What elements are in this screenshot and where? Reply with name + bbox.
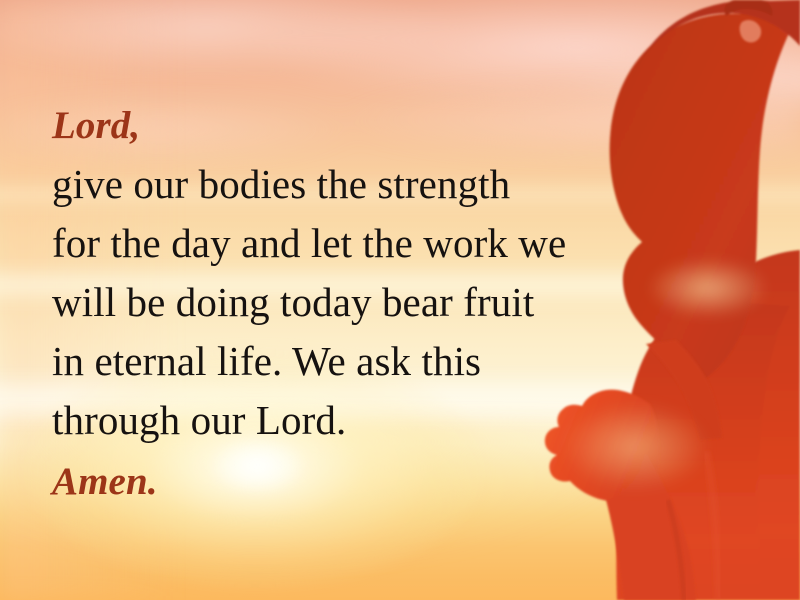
prayer-line-1: give our bodies the strength (52, 155, 652, 214)
prayer-line-3: will be doing today bear fruit (52, 273, 652, 332)
prayer-closing-amen: Amen. (52, 452, 652, 511)
prayer-line-2: for the day and let the work we (52, 214, 652, 273)
prayer-text-block: Lord, give our bodies the strength for t… (52, 96, 652, 511)
neck-rim-light (648, 258, 768, 318)
prayer-line-5: through our Lord. (52, 391, 652, 450)
prayer-quote-poster: Lord, give our bodies the strength for t… (0, 0, 800, 600)
prayer-salutation: Lord, (52, 96, 652, 155)
prayer-line-4: in eternal life. We ask this (52, 332, 652, 391)
